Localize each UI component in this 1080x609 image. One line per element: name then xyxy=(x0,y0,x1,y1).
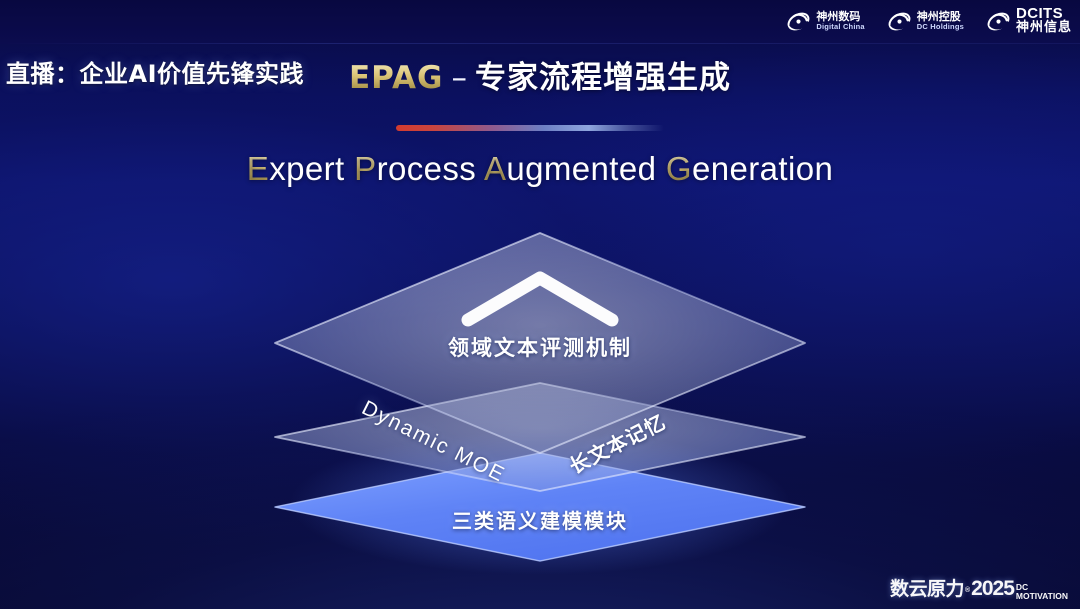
page-subtitle: Expert Process Augmented Generation xyxy=(0,150,1080,188)
subtitle-word-process: rocess xyxy=(377,150,477,187)
brand-dc-line2: MOTIVATION xyxy=(1016,592,1068,601)
subtitle-initial-a: A xyxy=(484,150,506,187)
title-dash: – xyxy=(452,60,468,96)
partner-logo-group: 神州数码 Digital China 神州控股 DC Holdings xyxy=(786,4,1072,38)
subtitle-word-augmented: ugmented xyxy=(506,150,656,187)
layer-bottom-label: 三类语义建模模块 xyxy=(255,505,825,534)
subtitle-word-generation: eneration xyxy=(692,150,833,187)
layer-top-label: 领域文本评测机制 xyxy=(255,332,825,362)
brand-chinese-name: 数云原力 xyxy=(890,574,964,601)
swirl-icon xyxy=(986,9,1011,34)
partner-name-en: DC Holdings xyxy=(917,23,964,31)
partner-logo-dcits: DCITS 神州信息 xyxy=(986,6,1072,35)
title-chinese: 专家流程增强生成 xyxy=(475,60,731,96)
swirl-icon xyxy=(786,9,811,34)
brand-logo-watermark: 数云原力 ® 2025 DC MOTIVATION xyxy=(890,574,1068,601)
partner-text: 神州控股 DC Holdings xyxy=(917,11,964,31)
partner-name-cn: 神州信息 xyxy=(1016,21,1072,35)
subtitle-initial-p: P xyxy=(354,150,376,187)
title-acronym: EPAG xyxy=(349,60,444,96)
partner-text: DCITS 神州信息 xyxy=(1016,6,1072,35)
layered-architecture-diagram: 领域文本评测机制 Dynamic MOE 长文本记忆 三类语义建模模块 xyxy=(255,215,825,570)
swirl-icon xyxy=(887,9,912,34)
partner-text: 神州数码 Digital China xyxy=(816,11,864,31)
subtitle-word-expert: xpert xyxy=(269,150,344,187)
partner-name-en: Digital China xyxy=(816,23,864,31)
live-stream-title: 直播：企业AI价值先锋实践 xyxy=(6,54,304,89)
brand-registered-mark: ® xyxy=(965,587,970,594)
partner-logo-digital-china: 神州数码 Digital China xyxy=(786,9,864,34)
subtitle-initial-g: G xyxy=(666,150,692,187)
slide-canvas: 数云原力 ® 2025 DC MOTIVATION 直播：企业AI价值先锋实践 … xyxy=(0,0,1080,609)
brand-year: 2025 xyxy=(971,577,1014,601)
partner-logo-dc-holdings: 神州控股 DC Holdings xyxy=(887,9,964,34)
brand-dc-motivation: DC MOTIVATION xyxy=(1016,583,1068,601)
gradient-divider xyxy=(396,125,664,131)
subtitle-initial-e: E xyxy=(247,150,269,187)
